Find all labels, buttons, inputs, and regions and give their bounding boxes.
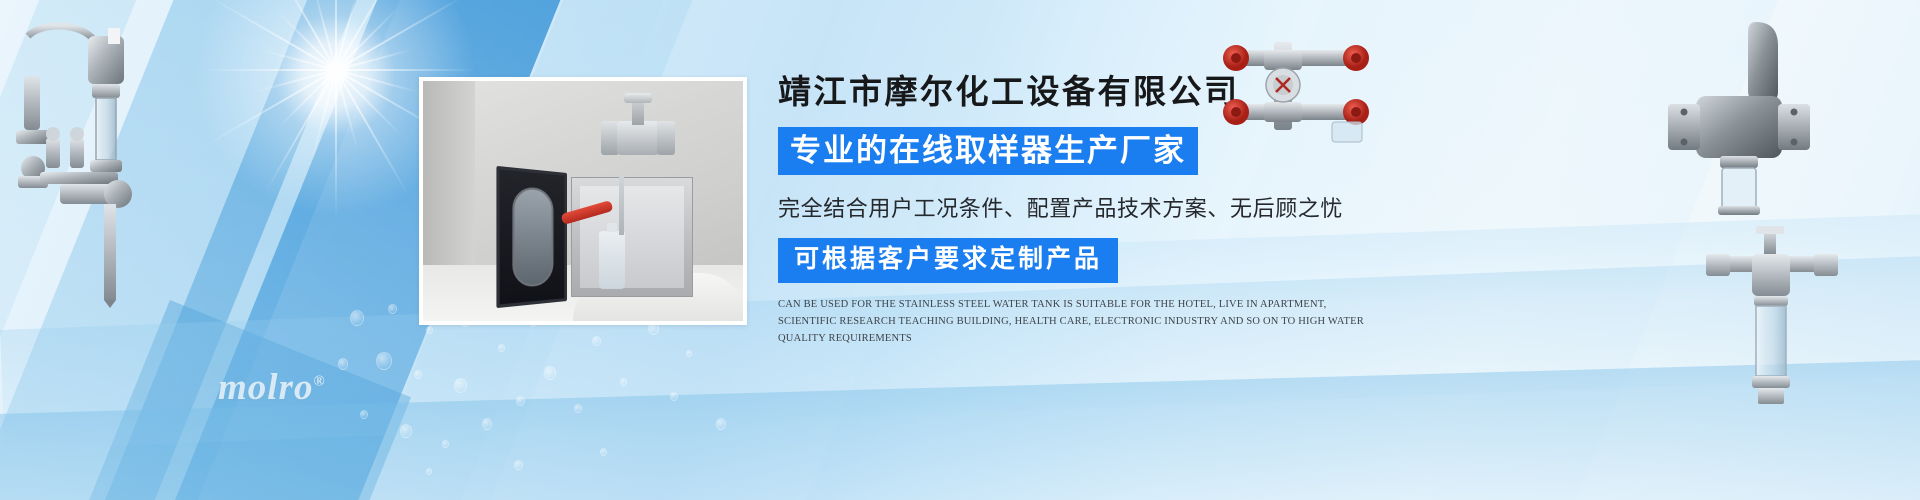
promotional-banner: 靖江市摩尔化工设备有限公司 专业的在线取样器生产厂家 完全结合用户工况条件、配置… [0,0,1920,500]
water-droplet [426,468,432,475]
product-photo-frame [419,77,747,325]
water-droplet [574,404,582,413]
subline-text: 完全结合用户工况条件、配置产品技术方案、无后顾之忧 [778,191,1418,223]
diagonal-stripe-thin [0,0,203,500]
company-name: 靖江市摩尔化工设备有限公司 [778,74,1418,114]
sun-ray [279,69,337,127]
water-droplet [544,366,556,380]
photo-valve-body [617,121,659,155]
water-droplet [426,326,433,334]
water-droplet [482,418,492,430]
sun-ray [276,10,337,71]
photo-sample-bottle [599,231,625,289]
sun-ray [253,69,337,93]
water-droplet [592,336,601,346]
water-droplet [600,448,607,456]
water-droplets [330,300,750,500]
water-droplet [400,424,412,438]
photo-cabinet-door [496,166,567,308]
right-equipment-sight-glass-image [1700,226,1850,406]
left-equipment-image [0,18,200,308]
sun-ray [335,70,337,220]
water-droplet [620,378,627,386]
water-droplet [388,304,397,314]
water-droplet [376,352,392,370]
sun-ray [335,70,409,196]
brand-watermark-text: molro [218,367,313,408]
water-droplet [516,396,525,406]
water-droplet [338,358,348,370]
registered-mark-icon: ® [313,374,325,390]
water-droplet [442,440,449,448]
sun-ray [266,0,337,71]
sun-ray [335,70,359,152]
sun-ray [336,69,476,71]
sun-ray [204,69,336,71]
sun-ray [336,48,414,71]
water-droplet [498,344,505,352]
water-droplet [454,378,467,393]
water-droplet [414,370,422,379]
sun-ray [265,70,337,192]
sun-ray [312,0,337,70]
english-description: CAN BE USED FOR THE STAINLESS STEEL WATE… [778,296,1378,348]
copy-block: 靖江市摩尔化工设备有限公司 专业的在线取样器生产厂家 完全结合用户工况条件、配置… [778,74,1418,348]
diagonal-stripe-accent-thin [33,0,443,500]
water-droplet [686,350,692,357]
photo-valve-assembly [599,99,677,177]
diagonal-stripe-mid [0,0,425,500]
diagonal-stripe-lower [0,300,411,500]
sun-ray [335,0,404,71]
photo-valve-cap [624,93,652,103]
right-equipment-lever-valve-image [1660,18,1820,218]
water-droplet [360,410,368,419]
sun-ray [335,0,358,70]
sun-ray [335,69,401,135]
brand-watermark: molro® [218,366,326,409]
photo-door-window [512,186,553,288]
photo-cabinet-body [571,177,693,297]
headline-badge: 专业的在线取样器生产厂家 [778,127,1198,175]
sun-ray [335,7,399,71]
sun-ray [335,0,337,70]
sun-ray [336,69,420,93]
sun-ray [260,49,336,71]
sun-ray [336,0,467,71]
cta-badge[interactable]: 可根据客户要求定制产品 [778,238,1118,283]
water-droplet [514,460,523,470]
sun-ray [206,69,337,146]
photo-sample-tube [619,177,624,235]
sun-ray [311,70,337,159]
water-droplet [716,418,726,430]
sun-ray [207,0,336,71]
photo-cabinet-interior [580,186,684,288]
photo-valve-flange-right [657,121,675,155]
product-photo [423,81,743,321]
water-droplet [350,310,364,326]
water-droplet [670,392,678,401]
